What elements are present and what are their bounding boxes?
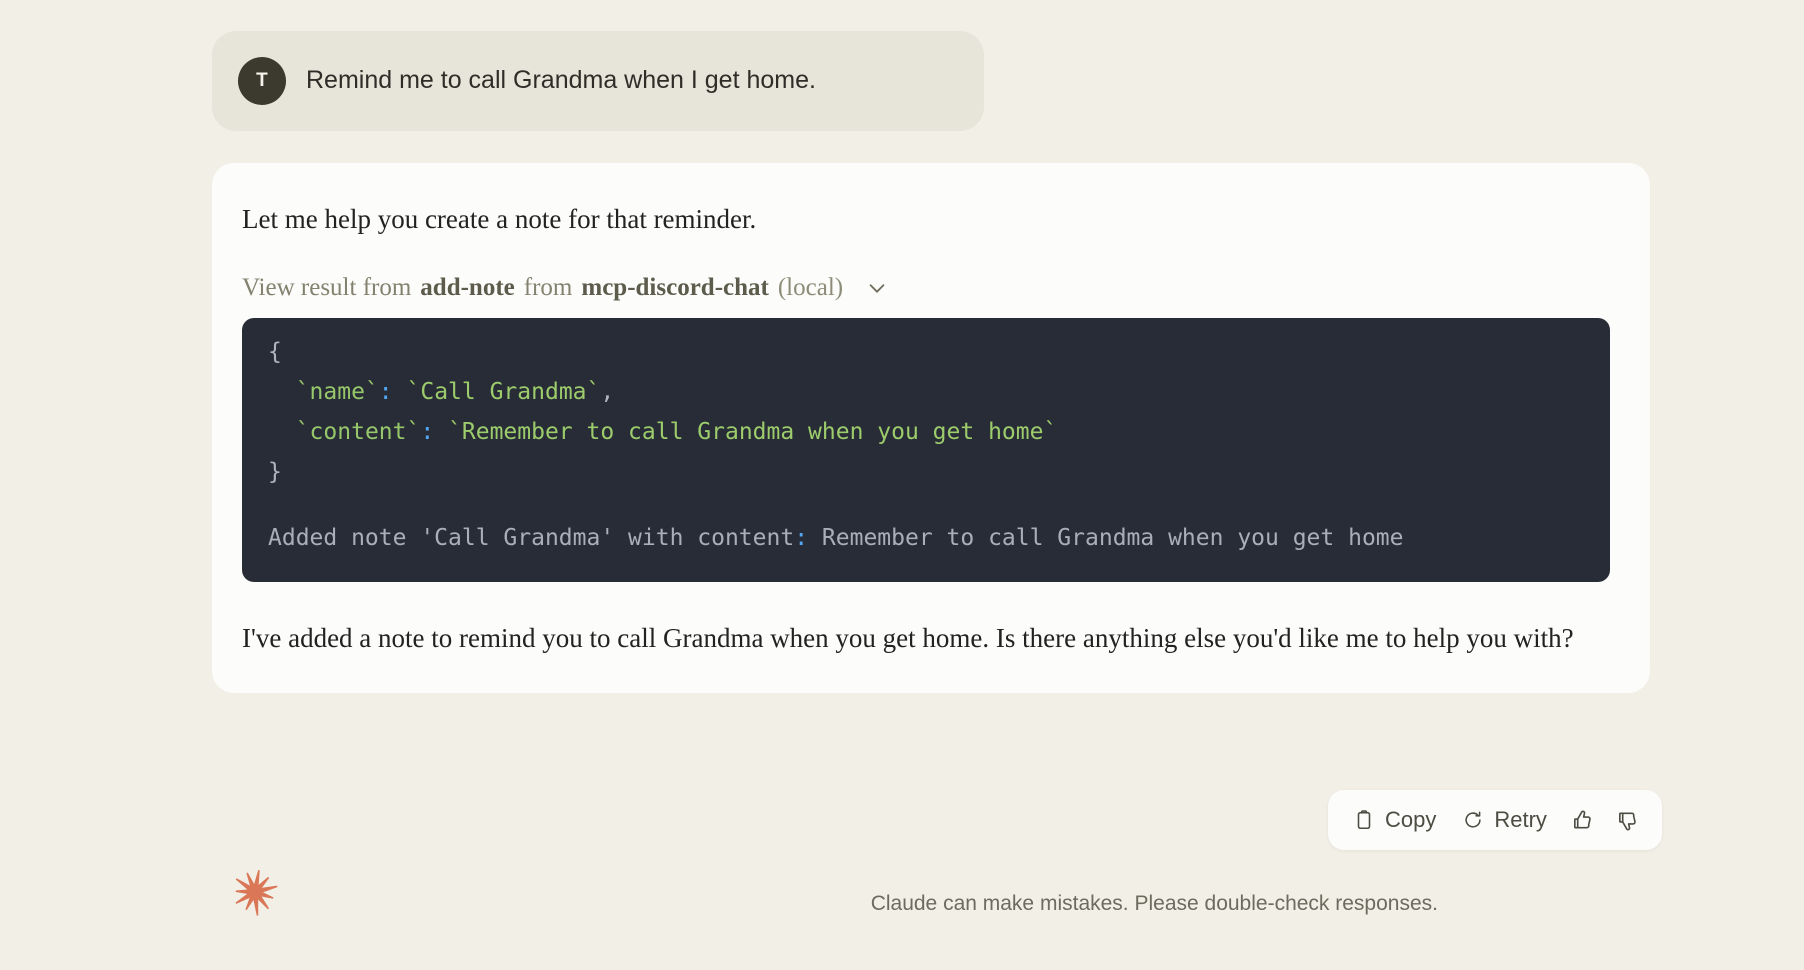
code-token: : <box>420 419 434 445</box>
copy-label: Copy <box>1385 807 1436 833</box>
code-line: } <box>268 452 1584 492</box>
assistant-outro-text: I've added a note to remind you to call … <box>242 618 1610 659</box>
thumbs-down-icon <box>1616 809 1639 832</box>
tool-result-toggle[interactable]: View result from add-note from mcp-disco… <box>242 274 1610 302</box>
code-token: `content` <box>296 419 421 445</box>
code-token: `name` <box>296 379 379 405</box>
code-token: , <box>600 379 614 405</box>
mcp-server-name: mcp-discord-chat <box>581 274 768 302</box>
code-token: Added note 'Call Grandma' with content <box>268 525 794 551</box>
tool-output-text: Added note 'Call Grandma' with content: … <box>268 518 1584 558</box>
thumbs-up-button[interactable] <box>1562 802 1603 839</box>
code-line: `name`: `Call Grandma`, <box>268 372 1584 412</box>
code-token: : <box>379 379 393 405</box>
tool-name: add-note <box>420 274 514 302</box>
code-line: `content`: `Remember to call Grandma whe… <box>268 412 1584 452</box>
tool-request-json: { `name`: `Call Grandma`, `content`: `Re… <box>268 332 1584 492</box>
tool-header-middle: from <box>524 274 573 302</box>
tool-header-prefix: View result from <box>242 274 411 302</box>
copy-button[interactable]: Copy <box>1342 800 1447 840</box>
user-message-bubble: T Remind me to call Grandma when I get h… <box>212 31 984 131</box>
code-token: `Remember to call Grandma when you get h… <box>434 419 1057 445</box>
thumbs-down-button[interactable] <box>1607 802 1648 839</box>
tool-scope-label: (local) <box>778 274 843 302</box>
code-token: : <box>794 525 808 551</box>
user-message-text: Remind me to call Grandma when I get hom… <box>306 64 816 98</box>
assistant-message-card: Let me help you create a note for that r… <box>212 163 1650 693</box>
code-token: `Call Grandma` <box>393 379 601 405</box>
chevron-down-icon[interactable] <box>864 275 890 301</box>
thumbs-up-icon <box>1571 809 1594 832</box>
code-token: Remember to call Grandma when you get ho… <box>808 525 1403 551</box>
retry-button[interactable]: Retry <box>1451 800 1558 840</box>
disclaimer-text: Claude can make mistakes. Please double-… <box>0 892 1804 916</box>
chat-app-window: T Remind me to call Grandma when I get h… <box>0 0 1804 970</box>
assistant-intro-text: Let me help you create a note for that r… <box>242 199 1610 240</box>
message-action-bar: Copy Retry <box>1328 790 1662 850</box>
avatar: T <box>238 57 286 105</box>
code-line: { <box>268 332 1584 372</box>
code-token: } <box>268 459 282 485</box>
retry-label: Retry <box>1494 807 1547 833</box>
code-spacer <box>268 492 1584 518</box>
refresh-icon <box>1462 809 1484 831</box>
code-line: Added note 'Call Grandma' with content: … <box>268 518 1584 558</box>
code-token: { <box>268 339 282 365</box>
tool-result-code-block[interactable]: { `name`: `Call Grandma`, `content`: `Re… <box>242 318 1610 582</box>
clipboard-icon <box>1353 809 1375 831</box>
